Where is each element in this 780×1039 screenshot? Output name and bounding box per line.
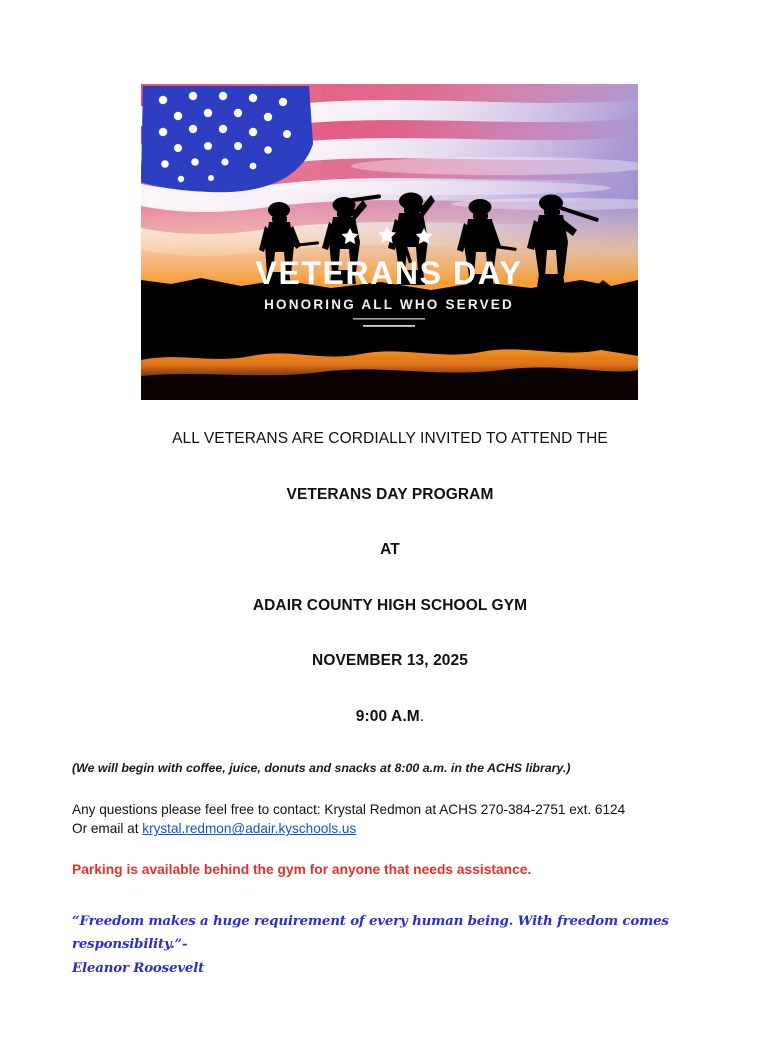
contact-phone-line: Any questions please feel free to contac… (72, 800, 720, 820)
flyer-page: VETERANS DAY HONORING ALL WHO SERVED ALL… (0, 0, 780, 1039)
parking-notice: Parking is available behind the gym for … (72, 861, 720, 880)
breakfast-note: (We will begin with coffee, juice, donut… (72, 760, 720, 776)
program-title: VETERANS DAY PROGRAM (0, 486, 780, 505)
venue-name: ADAIR COUNTY HIGH SCHOOL GYM (0, 597, 780, 616)
veterans-day-banner-graphic: VETERANS DAY HONORING ALL WHO SERVED (141, 84, 638, 400)
quotation-block: “Freedom makes a huge requirement of eve… (72, 910, 672, 980)
details-block: (We will begin with coffee, juice, donut… (72, 760, 720, 981)
event-time-period: . (420, 708, 424, 725)
invitation-line: ALL VETERANS ARE CORDIALLY INVITED TO AT… (0, 430, 780, 449)
veterans-day-banner-image: VETERANS DAY HONORING ALL WHO SERVED (141, 84, 638, 400)
email-prefix-label: Or email at (72, 821, 142, 836)
quotation-text: “Freedom makes a huge requirement of eve… (72, 913, 669, 952)
at-label: AT (0, 541, 780, 560)
banner-headline: VETERANS DAY (256, 255, 523, 291)
quotation-attribution: Eleanor Roosevelt (72, 960, 204, 976)
event-time-value: 9:00 A.M (356, 708, 420, 725)
flyer-body: ALL VETERANS ARE CORDIALLY INVITED TO AT… (0, 400, 780, 980)
email-link[interactable]: krystal.redmon@adair.kyschools.us (142, 821, 356, 836)
contact-email-line: Or email at krystal.redmon@adair.kyschoo… (72, 819, 720, 839)
contact-block: Any questions please feel free to contac… (72, 800, 720, 839)
banner-subhead: HONORING ALL WHO SERVED (264, 297, 514, 312)
event-date: NOVEMBER 13, 2025 (0, 652, 780, 671)
event-time: 9:00 A.M. (0, 708, 780, 727)
